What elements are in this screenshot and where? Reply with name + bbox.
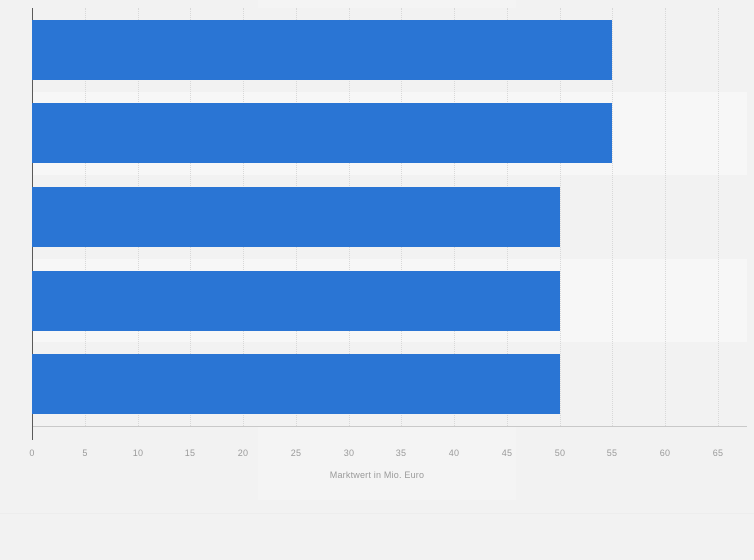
footer-strip: [0, 500, 754, 560]
x-axis-tick-label: 40: [439, 448, 469, 459]
x-axis-tick-label: 30: [334, 448, 364, 459]
x-axis-baseline: [32, 426, 747, 427]
bar[interactable]: [32, 103, 612, 163]
x-axis-tick-label: 15: [175, 448, 205, 459]
bar-chart: 05101520253035404550556065 Marktwert in …: [0, 0, 754, 560]
footer-divider: [0, 513, 754, 514]
bar[interactable]: [32, 271, 560, 331]
x-axis-tick-label: 50: [545, 448, 575, 459]
bar[interactable]: [32, 20, 612, 80]
x-axis-tick-label: 60: [650, 448, 680, 459]
bar[interactable]: [32, 187, 560, 247]
x-axis-tick-label: 20: [228, 448, 258, 459]
gridline: [665, 8, 666, 426]
x-axis-tick-label: 65: [703, 448, 733, 459]
x-axis-tick-label: 25: [281, 448, 311, 459]
x-axis-tick-label: 0: [17, 448, 47, 459]
gridline: [718, 8, 719, 426]
x-axis-tick-label: 35: [386, 448, 416, 459]
gridline: [612, 8, 613, 426]
x-axis-title: Marktwert in Mio. Euro: [0, 470, 754, 480]
x-axis-tick-label: 45: [492, 448, 522, 459]
x-axis-tick-label: 55: [597, 448, 627, 459]
x-axis-tick-label: 5: [70, 448, 100, 459]
x-axis-tick-label: 10: [123, 448, 153, 459]
bar[interactable]: [32, 354, 560, 414]
